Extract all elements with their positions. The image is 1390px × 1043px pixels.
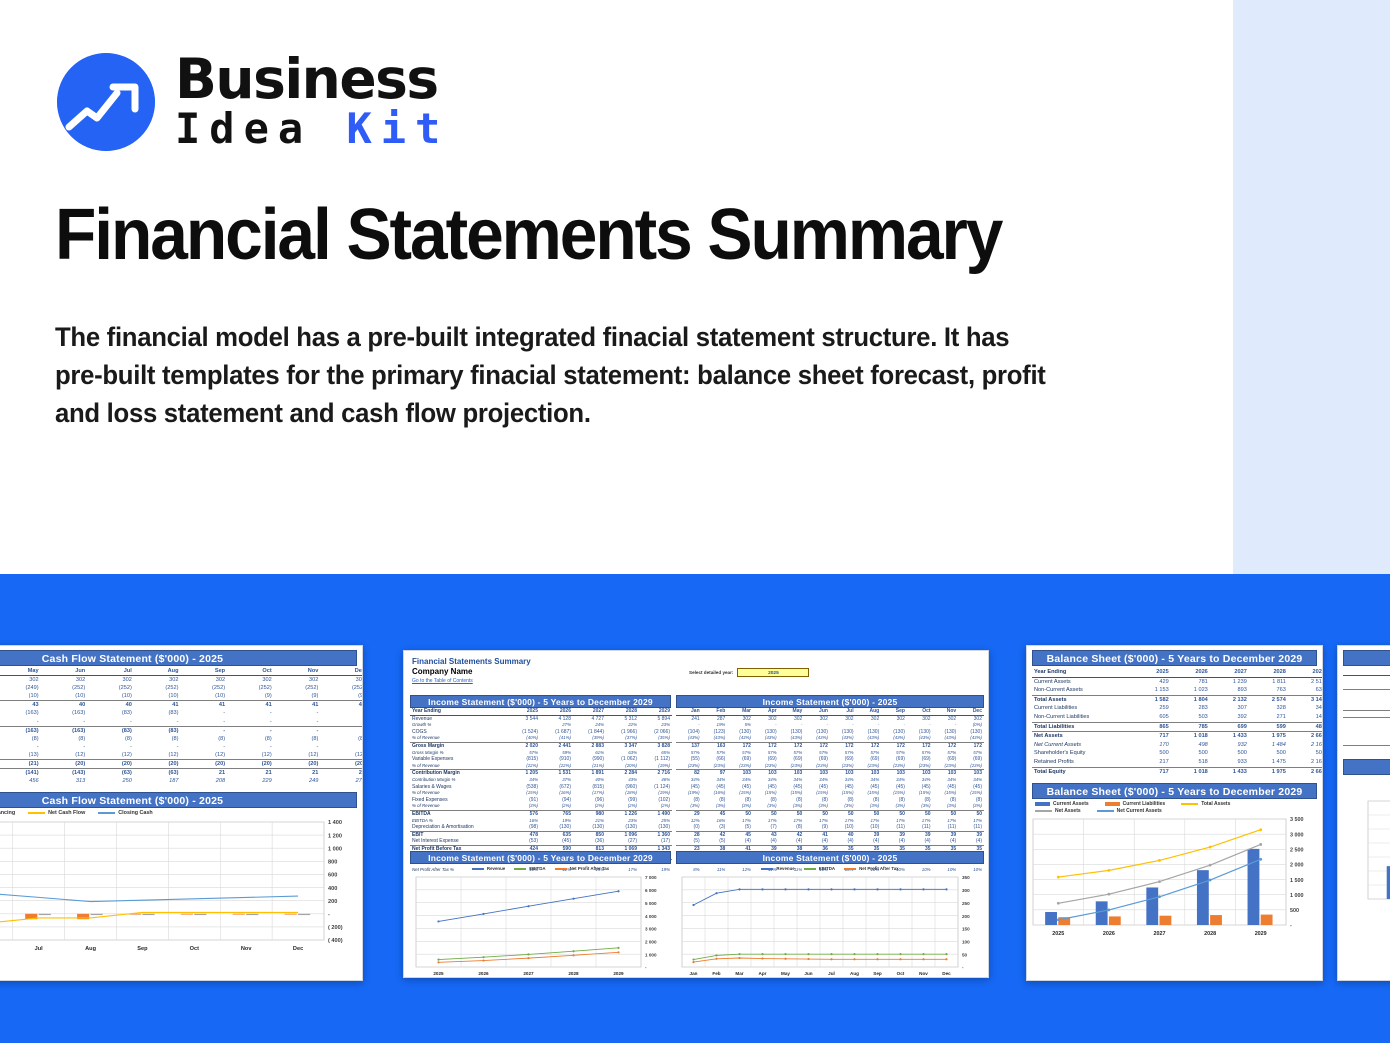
table-cell: Aug xyxy=(134,667,181,676)
table-cell: 287 xyxy=(702,715,728,722)
table-row: % of Revenue(22%)(22%)(21%)(20%)(19%) xyxy=(410,763,672,770)
table-cell: (20) xyxy=(274,760,321,769)
table-cell: 518 xyxy=(1171,758,1210,767)
table-cell: 103 xyxy=(856,770,882,777)
row-label: Growth % xyxy=(410,722,507,729)
table-row: Contribution Margin %34%37%40%43%46% xyxy=(410,777,672,784)
table-cell: 765 xyxy=(540,810,573,817)
table-cell: 40 xyxy=(87,701,134,710)
table-cell: (23%) xyxy=(907,763,933,770)
table-row: -------- xyxy=(0,718,363,727)
table-cell: (2%) xyxy=(540,803,573,810)
table-cell: (8) xyxy=(779,824,805,831)
table-cell: - xyxy=(180,709,227,717)
table-cell: 19% xyxy=(702,722,728,729)
svg-text:Jun: Jun xyxy=(804,971,812,976)
cash-flow-table-title: Cash Flow Statement ($'000) - 2025 xyxy=(0,650,357,666)
table-cell: (8) xyxy=(41,735,88,743)
table-cell: 34% xyxy=(702,777,728,784)
table-cell: (22%) xyxy=(540,763,573,770)
table-row: 456313250187208229249270 xyxy=(0,777,363,785)
table-cell: Nov xyxy=(933,708,959,715)
row-label: EBIT xyxy=(410,831,507,838)
table-cell: (10) xyxy=(87,692,134,701)
table-cell: (12) xyxy=(87,751,134,760)
legend-swatch xyxy=(1105,802,1120,806)
table-cell: (12) xyxy=(134,751,181,760)
table-cell: Jun xyxy=(804,708,830,715)
table-cell: (69) xyxy=(907,756,933,763)
table-cell: 208 xyxy=(180,777,227,785)
table-cell: (45) xyxy=(540,838,573,845)
table-cell: 2 441 xyxy=(540,742,573,749)
table-cell: (9) xyxy=(320,692,363,701)
table-cell: (45) xyxy=(933,784,959,791)
table-cell: (19%) xyxy=(639,763,672,770)
table-cell: 34% xyxy=(727,777,753,784)
table-cell: (20) xyxy=(87,760,134,769)
table-cell: 1 433 xyxy=(1210,767,1249,776)
table-cell: 172 xyxy=(804,742,830,749)
table-cell: 12% xyxy=(676,818,702,825)
table-cell: 17% xyxy=(958,818,984,825)
table-cell: (9) xyxy=(804,824,830,831)
table-cell: 50 xyxy=(856,810,882,817)
table-cell: - xyxy=(907,722,933,729)
table-cell: (8) xyxy=(907,797,933,804)
legend-label: Net Cash Flow xyxy=(48,810,85,816)
row-label: % of Revenue xyxy=(410,735,507,742)
row-label: Fixed Expenses xyxy=(410,797,507,804)
table-cell: 34% xyxy=(507,777,540,784)
monthly-income-title: Income Statement ($'000) - 2025 xyxy=(676,695,984,708)
table-cell: (43%) xyxy=(779,735,805,742)
table-row: EBITDA %16%19%21%23%25% xyxy=(410,818,672,825)
screenshot-balance-sheet[interactable]: Balance Sheet ($'000) - 5 Years to Decem… xyxy=(1026,645,1323,981)
table-cell: (13) xyxy=(0,751,41,760)
row-label: Variable Expenses xyxy=(410,756,507,763)
table-cell: (102) xyxy=(639,797,672,804)
table-row: 284245434241403939393939 xyxy=(676,831,984,838)
legend-swatch xyxy=(804,868,816,870)
table-cell: 1 018 xyxy=(1171,767,1210,776)
legend-swatch xyxy=(844,868,856,870)
table-cell: (12) xyxy=(274,751,321,760)
table-cell: 2 716 xyxy=(639,770,672,777)
table-cell: (43%) xyxy=(907,735,933,742)
table-cell: 42 xyxy=(702,831,728,838)
table-cell: 172 xyxy=(727,742,753,749)
table-cell: 4 727 xyxy=(573,715,606,722)
table-cell: (3%) xyxy=(804,803,830,810)
table-cell: - xyxy=(41,718,88,727)
table-cell: (8) xyxy=(727,797,753,804)
table-cell: (45) xyxy=(753,784,779,791)
table-cell: (130) xyxy=(779,729,805,736)
table-cell: (20) xyxy=(41,760,88,769)
table-cell: (45) xyxy=(830,784,856,791)
table-cell: (12) xyxy=(227,751,274,760)
row-label: Non-Current Assets xyxy=(1032,686,1132,695)
table-cell: (130) xyxy=(573,824,606,831)
table-cell: 313 xyxy=(41,777,88,785)
table-row: (8)(8)(8)(8)(8)(8)(8)(8) xyxy=(0,735,363,743)
table-cell: 141 xyxy=(1288,713,1323,722)
table-cell: (43%) xyxy=(804,735,830,742)
table-cell: (43%) xyxy=(676,735,702,742)
table-row: 34%34%34%34%34%34%34%34%34%34%34%34% xyxy=(676,777,984,784)
table-cell: (23%) xyxy=(958,763,984,770)
table-cell: 57% xyxy=(881,750,907,757)
table-cell: 2 660 xyxy=(1288,767,1323,776)
legend-row: Current AssetsCurrent LiabilitiesTotal A… xyxy=(1035,801,1314,807)
table-row: (5)(5)(4)(4)(4)(4)(4)(4)(4)(4)(4)(4) xyxy=(676,838,984,845)
svg-text:1 500: 1 500 xyxy=(1290,878,1304,884)
table-row: 512 xyxy=(1343,745,1390,752)
table-row: 1 081 xyxy=(1343,725,1390,732)
table-row: JanFebMarAprMayJunJulAugSepOctNovDec xyxy=(676,708,984,715)
table-cell: 1 023 xyxy=(1171,686,1210,695)
table-cell: (43%) xyxy=(933,735,959,742)
table-cell: - xyxy=(227,709,274,717)
svg-text:Sep: Sep xyxy=(137,946,148,952)
table-cell: (17) xyxy=(639,838,672,845)
table-cell: Feb xyxy=(702,708,728,715)
table-row: 1 297 xyxy=(1343,689,1390,696)
table-row: Current Assets4297811 2391 8112 513 xyxy=(1032,677,1323,686)
table-cell: (1 112) xyxy=(639,756,672,763)
row-label: % of Revenue xyxy=(410,763,507,770)
table-cell: 302 xyxy=(881,715,907,722)
table-cell: (11) xyxy=(881,824,907,831)
table-cell: 2026 xyxy=(540,708,573,715)
annual-income-title: Income Statement ($'000) - 5 Years to De… xyxy=(410,695,671,708)
legend-label: Financing xyxy=(0,810,15,816)
table-cell: 39 xyxy=(907,831,933,838)
table-row: -19%5%--------(0%) xyxy=(676,722,984,729)
table-cell: (130) xyxy=(753,729,779,736)
table-cell: (69) xyxy=(727,756,753,763)
svg-text:200: 200 xyxy=(328,899,337,905)
table-cell: (12) xyxy=(41,751,88,760)
table-cell: 57% xyxy=(933,750,959,757)
table-cell: 302 xyxy=(856,715,882,722)
svg-text:Jan: Jan xyxy=(690,971,698,976)
table-cell: (43%) xyxy=(727,735,753,742)
table-cell: - xyxy=(274,726,321,735)
table-cell: Dec xyxy=(958,708,984,715)
table-cell: (23%) xyxy=(830,763,856,770)
table-cell: 16% xyxy=(702,818,728,825)
table-cell: - xyxy=(41,743,88,751)
table-cell: Jul xyxy=(830,708,856,715)
table-cell: 302 xyxy=(0,676,41,685)
monthly-income-table: JanFebMarAprMayJunJulAugSepOctNovDec2412… xyxy=(676,708,984,873)
table-cell: 328 xyxy=(1249,704,1288,713)
table-cell: (3%) xyxy=(881,803,907,810)
table-cell: 50 xyxy=(958,810,984,817)
table-cell: 307 xyxy=(1210,704,1249,713)
svg-text:Oct: Oct xyxy=(190,946,199,952)
table-cell: 172 xyxy=(753,742,779,749)
table-cell: 302 xyxy=(41,676,88,685)
svg-text:Aug: Aug xyxy=(850,971,859,976)
legend-label: EBITDA xyxy=(819,866,835,871)
annual-income-chart-title: Income Statement ($'000) - 5 Years to De… xyxy=(410,851,671,864)
table-cell: 429 xyxy=(1132,677,1171,686)
balance-sheet-chart-title: Balance Sheet ($'000) - 5 Years to Decem… xyxy=(1032,783,1317,799)
table-row: (10)(10)(10)(10)(10)(9)(9)(9) xyxy=(0,692,363,701)
table-cell: (40%) xyxy=(507,735,540,742)
table-cell: (1 844) xyxy=(573,729,606,736)
table-cell: 40% xyxy=(573,777,606,784)
table-row: (23%)(23%)(23%)(23%)(23%)(23%)(23%)(23%)… xyxy=(676,763,984,770)
table-cell: (4) xyxy=(804,838,830,845)
screenshot-balance-sheet-monthly[interactable]: Jan1 1741241 297936927865121 08150012512… xyxy=(1337,645,1390,981)
brand-name-primary: Business xyxy=(175,53,449,107)
row-label: EBITDA xyxy=(410,810,507,817)
table-cell: 39 xyxy=(933,831,959,838)
table-cell: (3) xyxy=(702,824,728,831)
table-cell: Jun xyxy=(41,667,88,676)
legend-label: Net Assets xyxy=(1055,808,1081,814)
table-cell: 344 xyxy=(1288,704,1323,713)
table-cell: 2027 xyxy=(573,708,606,715)
table-cell: (3%) xyxy=(856,803,882,810)
table-cell: (43%) xyxy=(753,735,779,742)
table-cell: (252) xyxy=(41,684,88,692)
table-row: 93 xyxy=(1343,696,1390,703)
legend-item: Net Current Assets xyxy=(1097,808,1162,814)
table-cell: 172 xyxy=(881,742,907,749)
table-cell: (23%) xyxy=(856,763,882,770)
table-cell: (35%) xyxy=(639,735,672,742)
table-cell: 45 xyxy=(702,810,728,817)
table-cell: (69) xyxy=(753,756,779,763)
table-cell: 932 xyxy=(1210,741,1249,750)
table-cell: - xyxy=(779,722,805,729)
table-cell: (4) xyxy=(907,838,933,845)
table-cell: 34% xyxy=(881,777,907,784)
table-cell: (8) xyxy=(881,797,907,804)
table-cell: (4) xyxy=(881,838,907,845)
table-cell: (43%) xyxy=(830,735,856,742)
table-cell: (10) xyxy=(180,692,227,701)
svg-text:2029: 2029 xyxy=(613,971,624,976)
table-cell: (8) xyxy=(87,735,134,743)
table-cell: (130) xyxy=(881,729,907,736)
table-row: Non-Current Liabilities605503392271141 xyxy=(1032,713,1323,722)
table-cell: 37% xyxy=(540,777,573,784)
table-cell: 172 xyxy=(958,742,984,749)
table-cell: (8) xyxy=(227,735,274,743)
table-cell: 50 xyxy=(727,810,753,817)
table-cell: 57% xyxy=(907,750,933,757)
table-cell: 302 xyxy=(933,715,959,722)
table-row: 241287302302302302302302302302302302 xyxy=(676,715,984,722)
table-of-contents-link[interactable]: Go to the Table of Contents xyxy=(412,678,988,684)
table-row: EBITDA5767659801 2261 490 xyxy=(410,810,672,817)
table-cell: (19%) xyxy=(676,790,702,797)
table-cell: 172 xyxy=(830,742,856,749)
table-row: MayJunJulAugSepOctNovDec xyxy=(0,667,363,676)
table-cell: Aug xyxy=(856,708,882,715)
table-cell: 1 081 xyxy=(1343,725,1390,732)
table-cell: 503 xyxy=(1171,713,1210,722)
svg-text:2 000: 2 000 xyxy=(1290,863,1304,869)
table-cell: - xyxy=(227,743,274,751)
table-cell: 1 484 xyxy=(1249,741,1288,750)
table-cell: (53) xyxy=(507,838,540,845)
table-cell: (23%) xyxy=(804,763,830,770)
table-cell: 5 312 xyxy=(606,715,639,722)
table-cell: (815) xyxy=(507,756,540,763)
svg-text:Dec: Dec xyxy=(942,971,951,976)
table-cell: (20) xyxy=(320,760,363,769)
table-cell: 39 xyxy=(958,831,984,838)
legend-swatch xyxy=(761,868,773,870)
table-row: % of Revenue(40%)(41%)(39%)(37%)(35%) xyxy=(410,735,672,742)
table-cell: 2028 xyxy=(606,708,639,715)
table-cell: 97 xyxy=(702,770,728,777)
screenshot-income-statement[interactable]: Financial Statements Summary Company Nam… xyxy=(403,650,989,978)
legend-item: Net Profit After Tax xyxy=(555,866,610,871)
table-cell: 2 169 xyxy=(1288,741,1323,750)
table-cell: (12) xyxy=(320,751,363,760)
table-cell: (5) xyxy=(702,838,728,845)
table-cell: (45) xyxy=(856,784,882,791)
table-cell: 57% xyxy=(856,750,882,757)
svg-text:Nov: Nov xyxy=(919,971,928,976)
svg-text:( 200): ( 200) xyxy=(328,925,343,931)
svg-text:Feb: Feb xyxy=(712,971,720,976)
table-cell: (3%) xyxy=(933,803,959,810)
table-cell: (0%) xyxy=(958,722,984,729)
table-cell: - xyxy=(0,718,41,727)
table-cell: 1 891 xyxy=(573,770,606,777)
svg-text:Sep: Sep xyxy=(873,971,882,976)
table-cell: (1 687) xyxy=(540,729,573,736)
table-cell: 1 096 xyxy=(606,831,639,838)
table-cell: (2%) xyxy=(606,803,639,810)
table-cell: 41 xyxy=(274,701,321,710)
cash-flow-chart-title: Cash Flow Statement ($'000) - 2025 xyxy=(0,792,357,808)
table-cell: (252) xyxy=(227,684,274,692)
table-cell: - xyxy=(933,722,959,729)
table-row: 137163172172172172172172172172172172 xyxy=(676,742,984,749)
table-cell: (15%) xyxy=(881,790,907,797)
row-label: Retained Profits xyxy=(1032,758,1132,767)
table-cell: (43%) xyxy=(881,735,907,742)
svg-text:5 000: 5 000 xyxy=(645,901,657,906)
svg-text:4 000: 4 000 xyxy=(645,914,657,919)
table-cell: May xyxy=(0,667,41,676)
svg-text:2029: 2029 xyxy=(1255,931,1267,937)
legend-swatch xyxy=(1035,802,1050,806)
table-cell: 28 xyxy=(676,831,702,838)
table-cell: (3%) xyxy=(753,803,779,810)
table-cell: 763 xyxy=(1249,686,1288,695)
legend-label: Current Assets xyxy=(1053,801,1089,807)
table-cell: 103 xyxy=(779,770,805,777)
table-cell: 302 xyxy=(804,715,830,722)
legend-item: Net Profit After Tax xyxy=(844,866,899,871)
screenshot-cash-flow[interactable]: Cash Flow Statement ($'000) - 2025 MayJu… xyxy=(0,645,363,981)
svg-text:2026: 2026 xyxy=(1103,931,1115,937)
table-cell: 163 xyxy=(702,742,728,749)
table-cell: (20) xyxy=(180,760,227,769)
table-cell: (69) xyxy=(958,756,984,763)
legend-swatch xyxy=(472,868,484,870)
table-row: Shareholder's Equity500500500500500 xyxy=(1032,749,1323,758)
table-cell: 1 531 xyxy=(540,770,573,777)
table-cell: 21 xyxy=(320,769,363,778)
year-picker-input[interactable]: 2025 xyxy=(737,668,809,677)
table-cell: 893 xyxy=(1210,686,1249,695)
table-cell: 21% xyxy=(573,818,606,825)
table-cell: 34% xyxy=(958,777,984,784)
legend-swatch xyxy=(98,812,115,814)
table-row: Net Interest Expense(53)(45)(36)(27)(17) xyxy=(410,838,672,845)
table-cell: (130) xyxy=(804,729,830,736)
table-cell: 57% xyxy=(958,750,984,757)
table-cell: (23%) xyxy=(676,763,702,770)
table-cell: (39%) xyxy=(573,735,606,742)
table-row: Year Ending20252026202720282029 xyxy=(410,708,672,715)
brand-word-kit: Kit xyxy=(346,104,449,153)
table-cell: - xyxy=(274,718,321,727)
table-cell: (10) xyxy=(134,692,181,701)
table-cell: 1 582 xyxy=(1132,695,1171,704)
table-cell: (4) xyxy=(830,838,856,845)
table-cell: 57% xyxy=(676,750,702,757)
balance-sheet-chart-legend: Current AssetsCurrent LiabilitiesTotal A… xyxy=(1035,801,1314,814)
year-picker[interactable]: Select detailed year: 2025 xyxy=(689,668,809,677)
table-cell: Oct xyxy=(227,667,274,676)
svg-text:100: 100 xyxy=(962,939,970,944)
table-cell: 103 xyxy=(881,770,907,777)
table-cell: 103 xyxy=(753,770,779,777)
table-cell: (21%) xyxy=(573,763,606,770)
svg-text:2028: 2028 xyxy=(568,971,579,976)
table-cell: 17% xyxy=(804,818,830,825)
table-cell: (2%) xyxy=(639,803,672,810)
table-cell: - xyxy=(753,722,779,729)
table-row: Year Ending20252026202720282029 xyxy=(1032,668,1323,677)
table-cell: (43%) xyxy=(856,735,882,742)
table-cell: (130) xyxy=(933,729,959,736)
table-row: 8297103103103103103103103103103103 xyxy=(676,770,984,777)
table-cell: 34% xyxy=(804,777,830,784)
svg-text:250: 250 xyxy=(962,901,970,906)
table-cell: 45 xyxy=(727,831,753,838)
table-cell: 302 xyxy=(320,676,363,685)
table-cell: (63) xyxy=(134,769,181,778)
table-row: 12 xyxy=(1343,738,1390,745)
table-cell: (45) xyxy=(727,784,753,791)
table-cell: 57% xyxy=(753,750,779,757)
table-cell: (252) xyxy=(134,684,181,692)
table-cell: 500 xyxy=(1249,749,1288,758)
far-balance-table: Jan1 1741241 297936927865121 08150012512 xyxy=(1343,668,1390,752)
svg-text:Jul: Jul xyxy=(35,946,44,952)
row-label: Year Ending xyxy=(1032,668,1132,677)
table-cell: 103 xyxy=(958,770,984,777)
table-cell: (3%) xyxy=(727,803,753,810)
table-cell: 302 xyxy=(274,676,321,685)
table-cell: 170 xyxy=(1132,741,1171,750)
table-cell: 17% xyxy=(933,818,959,825)
